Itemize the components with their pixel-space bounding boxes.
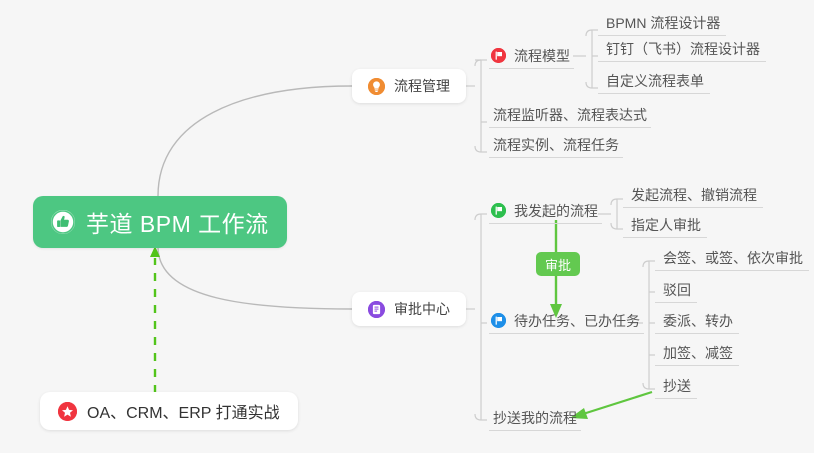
leaf-assigned-approver[interactable]: 指定人审批 [623, 212, 707, 238]
leaf-assigned-approver-label: 指定人审批 [631, 215, 701, 235]
clipboard-icon [368, 301, 385, 318]
root-node[interactable]: 芋道 BPM 工作流 [33, 196, 287, 248]
flag-icon [491, 48, 506, 63]
node-listener-expression[interactable]: 流程监听器、流程表达式 [489, 102, 651, 128]
leaf-start-cancel-process[interactable]: 发起流程、撤销流程 [623, 182, 763, 208]
leaf-countersign-label: 会签、或签、依次审批 [663, 248, 803, 268]
node-todo-done-tasks[interactable]: 待办任务、已办任务 [489, 308, 644, 334]
node-my-initiated-process[interactable]: 我发起的流程 [489, 198, 602, 224]
thumbs-up-icon [51, 210, 75, 234]
branch-approval-center[interactable]: 审批中心 [352, 292, 466, 326]
node-cc-to-me[interactable]: 抄送我的流程 [489, 405, 581, 431]
flag-icon [491, 203, 506, 218]
root-label: 芋道 BPM 工作流 [86, 205, 269, 239]
star-icon [58, 402, 77, 421]
branch-approval-center-label: 审批中心 [394, 299, 450, 319]
bottom-card-integration-label: OA、CRM、ERP 打通实战 [87, 399, 280, 423]
leaf-bpmn-designer[interactable]: BPMN 流程设计器 [598, 10, 726, 36]
leaf-reject-label: 驳回 [663, 280, 691, 300]
node-todo-done-tasks-label: 待办任务、已办任务 [514, 311, 640, 331]
node-my-initiated-process-label: 我发起的流程 [514, 201, 598, 221]
node-cc-to-me-label: 抄送我的流程 [493, 408, 577, 428]
leaf-dingtalk-designer[interactable]: 钉钉（飞书）流程设计器 [598, 36, 766, 62]
lightbulb-icon [368, 78, 385, 95]
mindmap-canvas: 芋道 BPM 工作流 流程管理 流程模型 BPMN 流程设计器 钉钉（飞书）流 [0, 0, 814, 453]
leaf-delegate-transfer-label: 委派、转办 [663, 311, 733, 331]
leaf-add-remove-sign[interactable]: 加签、减签 [655, 340, 739, 366]
branch-process-management-label: 流程管理 [394, 76, 450, 96]
dashed-arrow-to-root [150, 246, 160, 393]
flag-icon [491, 313, 506, 328]
leaf-cc-label: 抄送 [663, 376, 691, 396]
leaf-delegate-transfer[interactable]: 委派、转办 [655, 308, 739, 334]
leaf-start-cancel-process-label: 发起流程、撤销流程 [631, 185, 757, 205]
branch-process-management[interactable]: 流程管理 [352, 69, 466, 103]
leaf-dingtalk-designer-label: 钉钉（飞书）流程设计器 [606, 39, 760, 59]
node-instance-task[interactable]: 流程实例、流程任务 [489, 132, 623, 158]
cc-flow-arrow [570, 392, 652, 419]
node-instance-task-label: 流程实例、流程任务 [493, 135, 619, 155]
leaf-countersign[interactable]: 会签、或签、依次审批 [655, 245, 809, 271]
node-listener-expression-label: 流程监听器、流程表达式 [493, 105, 647, 125]
leaf-custom-form[interactable]: 自定义流程表单 [598, 68, 710, 94]
approval-badge-label: 审批 [545, 255, 571, 274]
leaf-cc[interactable]: 抄送 [655, 373, 697, 399]
leaf-reject[interactable]: 驳回 [655, 277, 697, 303]
leaf-custom-form-label: 自定义流程表单 [606, 71, 704, 91]
node-process-model-label: 流程模型 [514, 46, 570, 66]
leaf-add-remove-sign-label: 加签、减签 [663, 343, 733, 363]
approval-badge[interactable]: 审批 [536, 252, 580, 276]
leaf-bpmn-designer-label: BPMN 流程设计器 [606, 13, 720, 33]
node-process-model[interactable]: 流程模型 [489, 43, 574, 69]
bottom-card-integration[interactable]: OA、CRM、ERP 打通实战 [40, 392, 298, 430]
